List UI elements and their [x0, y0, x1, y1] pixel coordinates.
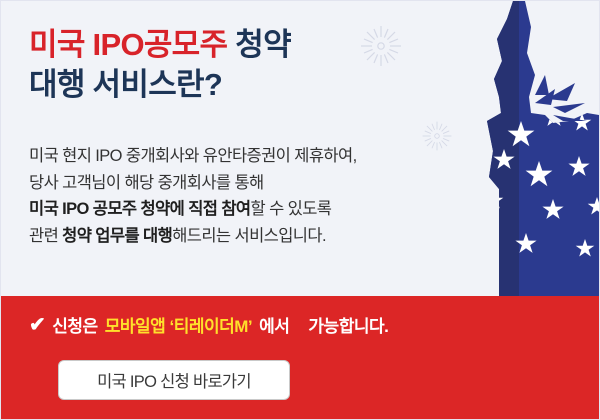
description-line-1: 미국 현지 IPO 중개회사와 유안타증권이 제휴하여,: [29, 143, 357, 170]
ipo-promo-banner: 미국 IPO공모주 청약 대행 서비스란? 미국 현지 IPO 중개회사와 유안…: [0, 0, 600, 420]
description-line-2: 당사 고객님이 해당 중개회사를 통해: [29, 170, 357, 197]
crown-spikes: [535, 75, 587, 121]
description-line-4-pre: 관련: [29, 227, 62, 245]
title-line-2: 대행 서비스란?: [29, 65, 291, 105]
star-icon: [485, 106, 599, 257]
description-line-4-bold: 청약 업무를 대행: [62, 227, 172, 245]
page-title: 미국 IPO공모주 청약 대행 서비스란?: [29, 25, 291, 106]
check-icon: ✔: [29, 315, 45, 335]
sparkle-icon: [361, 26, 579, 191]
title-line-1: 미국 IPO공모주 청약: [29, 25, 291, 65]
cta-tail: 가능합니다.: [308, 312, 388, 337]
description-line-3-rest: 할 수 있도록: [251, 200, 332, 218]
description-line-3-bold: 미국 IPO 공모주 청약에 직접 참여: [29, 200, 251, 218]
description-line-4: 관련 청약 업무를 대행해드리는 서비스입니다.: [29, 223, 357, 250]
cta-highlight: 모바일앱 ‘티레이더M’: [105, 312, 252, 337]
cta-suffix: 에서: [259, 312, 289, 337]
title-red-part: 미국 IPO공모주: [29, 27, 227, 62]
title-navy-part: 청약: [235, 27, 291, 62]
apply-us-ipo-button[interactable]: 미국 IPO 신청 바로가기: [58, 360, 290, 400]
cta-headline: ✔ 신청은 모바일앱 ‘티레이더M’ 에서 가능합니다.: [29, 312, 388, 337]
description-line-3: 미국 IPO 공모주 청약에 직접 참여할 수 있도록: [29, 196, 357, 223]
description-line-4-rest: 해드리는 서비스입니다.: [172, 227, 326, 245]
statue-silhouette: [479, 1, 599, 301]
statue-of-liberty-illustration: [339, 1, 599, 301]
description-text: 미국 현지 IPO 중개회사와 유안타증권이 제휴하여, 당사 고객님이 해당 …: [29, 143, 357, 250]
cta-panel: ✔ 신청은 모바일앱 ‘티레이더M’ 에서 가능합니다. 미국 IPO 신청 바…: [1, 296, 600, 419]
cta-prefix: 신청은: [52, 312, 97, 337]
